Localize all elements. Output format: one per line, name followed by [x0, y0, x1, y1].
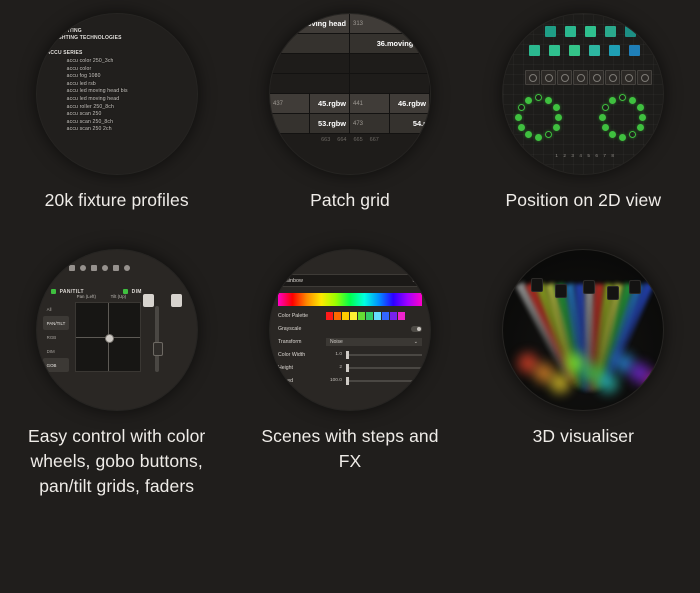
moving-head-fixture[interactable]: [555, 284, 567, 298]
fixture-bar-icon[interactable]: [557, 70, 572, 85]
property-value: 100.0: [326, 378, 342, 383]
scene-property-row: Grayscale: [278, 323, 422, 334]
dim-fader-knob[interactable]: [153, 342, 163, 356]
fixture-bar-icon[interactable]: [605, 70, 620, 85]
table-row[interactable]: ..moving head313: [270, 14, 430, 34]
fixture-square-top[interactable]: [585, 26, 596, 37]
grayscale-toggle[interactable]: [411, 326, 422, 332]
patch-cell[interactable]: [350, 74, 430, 93]
patch-cell[interactable]: 473: [350, 114, 390, 133]
feature-visualiser: 3D visualiser: [467, 236, 700, 593]
transform-value: Noise: [330, 339, 343, 345]
fixture-ring-left[interactable]: [518, 124, 525, 131]
pointer-icon[interactable]: [69, 265, 75, 271]
property-value: 2: [326, 365, 342, 370]
palette-swatch[interactable]: [350, 312, 357, 320]
fixture-tree-circle: ...VELIGHTING# LIGHTING TECHNOLOGIESDJAC…: [37, 14, 197, 174]
pad-header: Pan (Left): [77, 294, 96, 299]
feature-grid: ...VELIGHTING# LIGHTING TECHNOLOGIESDJAC…: [0, 0, 700, 593]
property-label: Speed: [278, 378, 326, 384]
patch-cell[interactable]: 313: [350, 14, 430, 33]
fixture-bar-icon[interactable]: [541, 70, 556, 85]
scene-fx-circle: rainbow ⌄ Color PaletteGrayscaleTransfor…: [270, 250, 430, 410]
preset-select[interactable]: rainbow ⌄: [278, 274, 422, 287]
moving-head-fixture[interactable]: [607, 286, 619, 300]
caption-fixture-profiles: 20k fixture profiles: [45, 188, 189, 213]
ruler-tick: 6: [595, 153, 598, 158]
eye-icon[interactable]: [80, 265, 86, 271]
patch-footer-number: 663: [321, 137, 330, 143]
ruler-tick: 2: [563, 153, 566, 158]
patch-footer-number: 667: [370, 137, 379, 143]
attribute-tab-list[interactable]: AllPAN/TILTRGBDIMGOBFX: [43, 302, 69, 386]
moving-head-fixture[interactable]: [629, 280, 641, 294]
property-slider[interactable]: [346, 354, 422, 356]
patch-cell[interactable]: 53.rgbw: [310, 114, 350, 133]
property-value: 1.0: [326, 352, 342, 357]
fixture-square-row2[interactable]: [589, 45, 600, 56]
table-row[interactable]: [270, 54, 430, 74]
patch-cell[interactable]: 36.moving he.: [350, 34, 430, 53]
attribute-tab[interactable]: PAN/TILT: [43, 316, 69, 330]
tree-item[interactable]: accu roller 250_8ch: [37, 104, 197, 112]
fixture-ring-left[interactable]: [553, 104, 560, 111]
caption-patch-grid: Patch grid: [310, 188, 390, 213]
patch-cell[interactable]: [270, 74, 350, 93]
fixture-square-top[interactable]: [565, 26, 576, 37]
patch-footer-number: 665: [353, 137, 362, 143]
patch-grid-circle: ..moving head31336.moving he.43745.rgbw4…: [270, 14, 430, 174]
feature-scenes-fx: rainbow ⌄ Color PaletteGrayscaleTransfor…: [233, 236, 466, 593]
light-pool: [641, 366, 663, 400]
rainbow-gradient-bar[interactable]: [278, 293, 422, 306]
patch-table[interactable]: ..moving head31336.moving he.43745.rgbw4…: [270, 14, 430, 174]
ruler-tick: 3: [571, 153, 574, 158]
attribute-tab[interactable]: RGB: [43, 330, 69, 344]
control-panel-circle: PAN/TILTDIMAllPAN/TILTRGBDIMGOBFXPan (Le…: [37, 250, 197, 410]
palette-swatch[interactable]: [366, 312, 373, 320]
tree-group[interactable]: ...VE: [37, 20, 197, 28]
palette-swatch[interactable]: [390, 312, 397, 320]
attribute-tab[interactable]: FX: [43, 372, 69, 386]
scene-fx-panel[interactable]: rainbow ⌄ Color PaletteGrayscaleTransfor…: [270, 250, 430, 410]
fixture-ring-right[interactable]: [602, 104, 609, 111]
section-header: DIM: [123, 286, 183, 297]
patch-cell[interactable]: 46.rgbw: [390, 94, 430, 113]
tree-group[interactable]: # LIGHTING TECHNOLOGIES: [37, 35, 197, 43]
ruler-tick: 8: [611, 153, 614, 158]
fixture-ring-left[interactable]: [518, 104, 525, 111]
palette-swatch[interactable]: [342, 312, 349, 320]
palette-swatch[interactable]: [382, 312, 389, 320]
palette-swatch[interactable]: [398, 312, 405, 320]
undo-icon[interactable]: [113, 265, 119, 271]
moving-head-fixture[interactable]: [583, 280, 595, 294]
fixture-square-row2[interactable]: [549, 45, 560, 56]
feature-position-2d: 12345678 Position on 2D view: [467, 0, 700, 236]
property-label: Color Width: [278, 352, 326, 358]
status-indicator: [51, 289, 56, 294]
attribute-tab[interactable]: DIM: [43, 344, 69, 358]
color-palette-swatches[interactable]: [326, 312, 405, 320]
view-grid: [503, 14, 663, 174]
fixture-square-row2[interactable]: [569, 45, 580, 56]
two-d-view-circle: 12345678: [503, 14, 663, 174]
control-panel[interactable]: PAN/TILTDIMAllPAN/TILTRGBDIMGOBFXPan (Le…: [37, 250, 197, 410]
dim-fader-track[interactable]: [155, 306, 159, 372]
two-d-view[interactable]: 12345678: [503, 14, 663, 174]
menu-icon[interactable]: [124, 265, 130, 271]
attribute-tab[interactable]: All: [43, 302, 69, 316]
moving-head-fixture[interactable]: [531, 278, 543, 292]
feature-fixture-profiles: ...VELIGHTING# LIGHTING TECHNOLOGIESDJAC…: [0, 0, 233, 236]
patch-cell[interactable]: 54.r: [390, 114, 430, 133]
patch-cell[interactable]: 45.rgbw: [310, 94, 350, 113]
visualiser[interactable]: [503, 250, 663, 410]
patch-cell[interactable]: [270, 54, 350, 73]
patch-cell[interactable]: ..moving head: [270, 14, 350, 33]
tree-item[interactable]: accu fog 1080: [37, 73, 197, 81]
fixture-bar-icon[interactable]: [637, 70, 652, 85]
tree-item[interactable]: accu scan 250 2ch: [37, 126, 197, 134]
fixture-square-row2[interactable]: [629, 45, 640, 56]
patch-footer: 663664665667: [270, 134, 430, 143]
fixture-ring-right[interactable]: [637, 124, 644, 131]
fixture-square-top[interactable]: [625, 26, 636, 37]
scene-property-row: Color Palette: [278, 310, 422, 321]
patch-cell[interactable]: 441: [350, 94, 390, 113]
tree-item[interactable]: accu scan 250: [37, 111, 197, 119]
table-row[interactable]: 43745.rgbw44146.rgbw: [270, 94, 430, 114]
property-label: Height: [278, 365, 326, 371]
transform-dropdown[interactable]: Noise⌄: [326, 338, 422, 346]
scene-property-row: Color Width1.0: [278, 349, 422, 360]
fixture-ring-right[interactable]: [609, 97, 616, 104]
fixture-square-row2[interactable]: [529, 45, 540, 56]
feature-easy-control: PAN/TILTDIMAllPAN/TILTRGBDIMGOBFXPan (Le…: [0, 236, 233, 593]
fixture-bar-icon[interactable]: [573, 70, 588, 85]
fixture-bar-icon[interactable]: [525, 70, 540, 85]
ruler-tick: 7: [603, 153, 606, 158]
palette-swatch[interactable]: [334, 312, 341, 320]
fixture-ring-left[interactable]: [553, 124, 560, 131]
tree-item[interactable]: accu led moving head bis: [37, 88, 197, 96]
control-toolbar[interactable]: [69, 262, 169, 274]
tree-item[interactable]: accu scan 250_8ch: [37, 119, 197, 127]
ruler-tick: 1: [555, 153, 558, 158]
chevron-down-icon: ⌄: [411, 278, 416, 284]
table-row[interactable]: [270, 74, 430, 94]
fixture-tree[interactable]: ...VELIGHTING# LIGHTING TECHNOLOGIESDJAC…: [37, 14, 197, 174]
visualiser-circle: [503, 250, 663, 410]
fixture-ring-right[interactable]: [629, 97, 636, 104]
scene-property-row: Speed100.0: [278, 375, 422, 386]
fixture-ring-right[interactable]: [602, 124, 609, 131]
tree-group[interactable]: ACCU SERIES: [37, 50, 197, 58]
property-slider[interactable]: [346, 380, 422, 382]
refresh-icon[interactable]: [102, 265, 108, 271]
palette-swatch[interactable]: [358, 312, 365, 320]
patch-footer-number: 664: [337, 137, 346, 143]
caption-easy-control: Easy control with color wheels, gobo but…: [17, 424, 217, 499]
fixture-bar-icon[interactable]: [589, 70, 604, 85]
fixture-bar-icon[interactable]: [621, 70, 636, 85]
scene-property-row: Height2: [278, 362, 422, 373]
patch-cell[interactable]: [270, 34, 350, 53]
property-slider[interactable]: [346, 367, 422, 369]
caption-position-2d: Position on 2D view: [506, 188, 662, 213]
fixture-ring-left[interactable]: [545, 97, 552, 104]
patch-cell[interactable]: [270, 114, 310, 133]
pad-header: Tilt (Up): [111, 294, 126, 299]
fixture-square-row2[interactable]: [609, 45, 620, 56]
scene-property-row: TransformNoise⌄: [278, 336, 422, 347]
caption-scenes-fx: Scenes with steps and FX: [250, 424, 450, 474]
fixture-ring-right[interactable]: [637, 104, 644, 111]
ruler-tick: 5: [587, 153, 590, 158]
ruler-tick: 4: [579, 153, 582, 158]
tree-item[interactable]: accu led moving head: [37, 96, 197, 104]
preset-name: rainbow: [284, 278, 303, 284]
crop-icon[interactable]: [91, 265, 97, 271]
palette-swatch[interactable]: [374, 312, 381, 320]
feature-patch-grid: ..moving head31336.moving he.43745.rgbw4…: [233, 0, 466, 236]
property-label: Transform: [278, 339, 326, 345]
attribute-tab[interactable]: GOB: [43, 358, 69, 372]
tree-item[interactable]: accu color 250_3ch: [37, 58, 197, 66]
fixture-ring-left[interactable]: [525, 97, 532, 104]
caption-visualiser: 3D visualiser: [533, 424, 634, 449]
section-label: DIM: [132, 289, 142, 295]
patch-cell[interactable]: 437: [270, 94, 310, 113]
patch-cell[interactable]: [350, 54, 430, 73]
pan-tilt-pad[interactable]: [75, 302, 141, 372]
fixture-square-top[interactable]: [545, 26, 556, 37]
table-row[interactable]: 36.moving he.: [270, 34, 430, 54]
pad-handle[interactable]: [105, 334, 114, 343]
palette-swatch[interactable]: [326, 312, 333, 320]
table-row[interactable]: 53.rgbw47354.r: [270, 114, 430, 134]
tree-item[interactable]: accu color: [37, 66, 197, 74]
property-label: Grayscale: [278, 326, 326, 332]
chevron-down-icon: ⌄: [414, 339, 418, 345]
fixture-square-top[interactable]: [605, 26, 616, 37]
property-label: Color Palette: [278, 313, 326, 319]
